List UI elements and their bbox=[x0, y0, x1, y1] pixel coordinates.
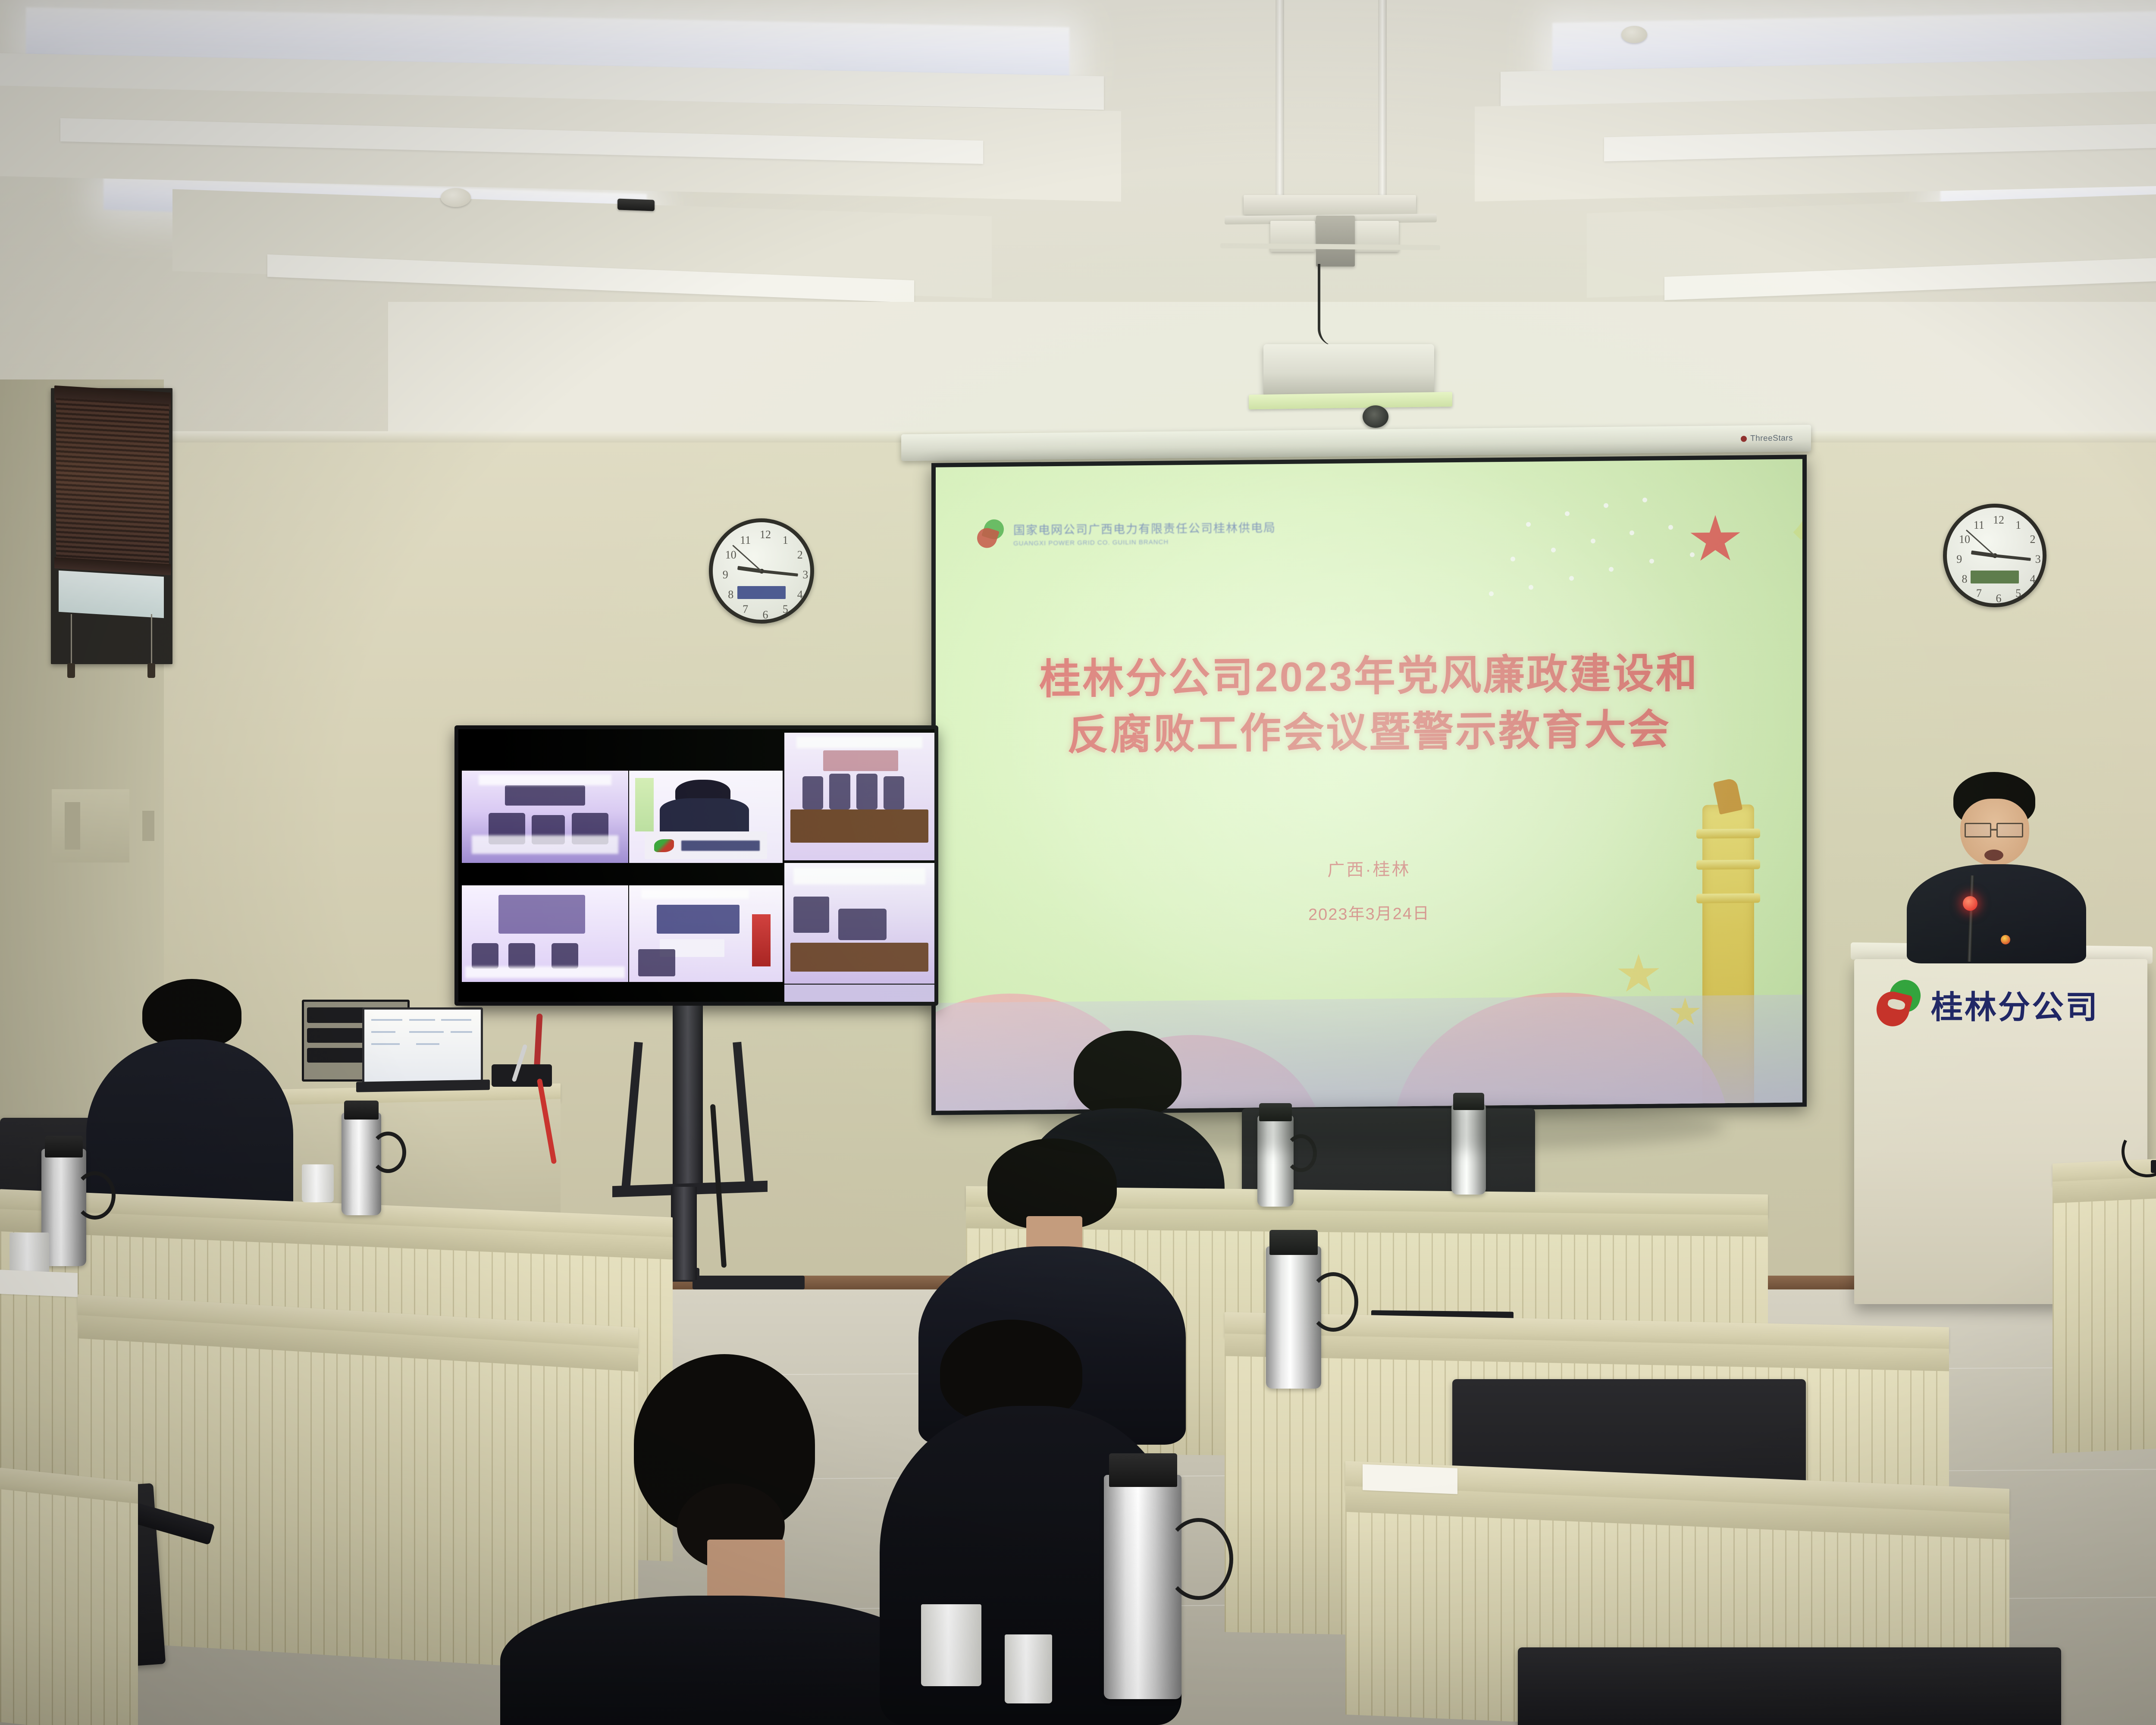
clock-numeral: 7 bbox=[1976, 587, 1982, 600]
cable-bundle bbox=[492, 1064, 552, 1087]
left-wall-recess bbox=[65, 802, 80, 850]
tv-stand-foot bbox=[693, 1276, 805, 1289]
clock-minute-hand bbox=[1995, 554, 2031, 561]
vc-tile-room-5[interactable] bbox=[629, 885, 783, 982]
clock-numeral: 3 bbox=[2035, 553, 2041, 566]
clock-numeral: 12 bbox=[760, 528, 771, 541]
brand-dot-icon bbox=[1741, 436, 1747, 442]
thermos-lid[interactable] bbox=[1269, 1230, 1318, 1255]
vc-tile-room-4[interactable] bbox=[462, 885, 628, 982]
speaker-torso bbox=[1907, 864, 2086, 963]
speaker-mouth bbox=[1984, 850, 2003, 861]
slide-header: 国家电网公司广西电力有限责任公司桂林供电局 GUANGXI POWER GRID… bbox=[977, 516, 1276, 550]
table-skirt bbox=[0, 1489, 138, 1725]
meeting-room-photo: 121234567891011 121234567891011 ThreeSta… bbox=[0, 0, 2156, 1725]
vc-tile-room-1[interactable] bbox=[462, 771, 628, 863]
thermos-lid[interactable] bbox=[344, 1101, 379, 1120]
projection-screen: 国家电网公司广西电力有限责任公司桂林供电局 GUANGXI POWER GRID… bbox=[931, 455, 1807, 1115]
clock-numeral: 8 bbox=[728, 588, 733, 601]
projector-mount-plate bbox=[1244, 195, 1416, 215]
screen-shadow bbox=[1035, 1104, 1725, 1151]
attendee-hair bbox=[142, 979, 241, 1048]
thermos-handle[interactable] bbox=[370, 1132, 406, 1173]
speaker-glasses-icon bbox=[1965, 823, 1991, 837]
projector-suspension-rod bbox=[1378, 0, 1387, 195]
clock-numeral: 4 bbox=[2030, 573, 2035, 586]
company-logo-icon bbox=[1877, 980, 1921, 1029]
microphone-base bbox=[2151, 1160, 2156, 1173]
slide-org-name-cn: 国家电网公司广西电力有限责任公司桂林供电局 bbox=[1013, 518, 1276, 538]
thermos-handle[interactable] bbox=[74, 1171, 116, 1220]
projector-icon bbox=[1263, 344, 1434, 397]
microphone-led-indicator bbox=[1963, 896, 1977, 911]
tv-stand-pole bbox=[673, 1006, 703, 1187]
slide-title-line1: 桂林分公司2023年党风廉政建设和 bbox=[936, 644, 1802, 709]
clock-brand-band bbox=[1971, 571, 2019, 583]
projector-suspension-rod bbox=[1275, 0, 1284, 195]
vc-tile-room-2[interactable] bbox=[784, 733, 934, 860]
clock-numeral: 1 bbox=[2015, 519, 2021, 532]
podium-brand: 桂林分公司 bbox=[1877, 980, 2099, 1029]
window-blind-icon[interactable] bbox=[56, 398, 169, 574]
slide-org-name-en: GUANGXI POWER GRID CO. GUILIN BRANCH bbox=[1013, 537, 1276, 547]
clock-numeral: 10 bbox=[1959, 533, 1970, 546]
slide-title: 桂林分公司2023年党风廉政建设和 反腐败工作会议暨警示教育大会 bbox=[936, 644, 1802, 764]
projected-slide: 国家电网公司广西电力有限责任公司桂林供电局 GUANGXI POWER GRID… bbox=[936, 459, 1802, 1110]
window-glass bbox=[59, 571, 164, 618]
smoke-detector-icon bbox=[1621, 26, 1647, 43]
clock-numeral: 5 bbox=[783, 603, 788, 616]
speaker-at-podium bbox=[1862, 772, 2129, 962]
clock-numeral: 12 bbox=[1993, 514, 2004, 527]
blind-cord-weight[interactable] bbox=[147, 663, 155, 678]
clock-numeral: 7 bbox=[743, 603, 748, 616]
projector-tilt-joint bbox=[1316, 216, 1355, 267]
video-conference-display[interactable] bbox=[454, 725, 938, 1006]
vc-tile-room-3[interactable] bbox=[784, 863, 934, 984]
clock-numeral: 8 bbox=[1962, 573, 1968, 586]
slide-org-logo-icon bbox=[977, 518, 1006, 550]
ceiling-speaker-icon bbox=[617, 198, 655, 211]
blind-cord-weight[interactable] bbox=[67, 663, 75, 678]
projector-cable bbox=[1318, 264, 1344, 346]
video-conference-grid bbox=[458, 729, 934, 1002]
clock-numeral: 9 bbox=[1956, 553, 1962, 566]
table-skirt bbox=[2053, 1179, 2156, 1453]
smoke-detector-icon bbox=[441, 188, 471, 207]
water-cup[interactable] bbox=[302, 1164, 334, 1202]
speaker-glasses-icon bbox=[1996, 823, 2023, 837]
left-wall-panel bbox=[52, 789, 129, 862]
thermos-lid[interactable] bbox=[45, 1136, 83, 1157]
clock-numeral: 3 bbox=[802, 568, 808, 581]
attendee-torso bbox=[500, 1596, 931, 1725]
thermos-icon[interactable] bbox=[1104, 1475, 1181, 1699]
tv-stand-column bbox=[671, 1187, 697, 1280]
vc-tile-active-speaker[interactable] bbox=[629, 771, 783, 863]
thermos-handle[interactable] bbox=[1164, 1518, 1233, 1600]
slide-subtitle: 广西·桂林 2023年3月24日 bbox=[936, 851, 1802, 928]
wall-clock-icon: 121234567891011 bbox=[709, 518, 814, 624]
clock-brand-band bbox=[737, 586, 786, 599]
thermos-lid[interactable] bbox=[1109, 1453, 1177, 1487]
clock-numeral: 2 bbox=[2030, 533, 2035, 546]
vc-tile-empty[interactable] bbox=[784, 985, 934, 1002]
clock-numeral: 11 bbox=[740, 534, 751, 547]
attendee-hair bbox=[1074, 1031, 1181, 1117]
attendee-hair bbox=[987, 1138, 1117, 1229]
clock-numeral: 9 bbox=[723, 568, 728, 581]
podium-label: 桂林分公司 bbox=[1931, 982, 2099, 1028]
clock-numeral: 11 bbox=[1974, 519, 1984, 532]
clock-minute-hand bbox=[761, 570, 799, 577]
laptop-icon[interactable] bbox=[362, 1007, 483, 1084]
attendee-foreground-woman bbox=[535, 1354, 897, 1725]
projector-base-plate bbox=[1249, 392, 1452, 410]
document-papers[interactable] bbox=[1363, 1464, 1457, 1494]
clock-numeral: 6 bbox=[763, 608, 768, 621]
clock-numeral: 10 bbox=[725, 549, 736, 561]
clock-numeral: 6 bbox=[1996, 592, 2002, 605]
clock-numeral: 4 bbox=[797, 588, 803, 601]
water-cup[interactable] bbox=[921, 1604, 981, 1686]
speaker-glasses-bridge bbox=[1991, 829, 1996, 831]
camera-icon bbox=[1363, 405, 1388, 428]
water-cup[interactable] bbox=[1005, 1634, 1052, 1703]
screen-case-brand: ThreeStars bbox=[1741, 433, 1793, 443]
blind-cord[interactable] bbox=[151, 614, 152, 667]
thermos-handle[interactable] bbox=[1308, 1272, 1358, 1332]
screen-brand-label: ThreeStars bbox=[1750, 433, 1793, 443]
blind-cord[interactable] bbox=[71, 614, 72, 667]
chair[interactable] bbox=[1518, 1647, 2061, 1725]
clock-numeral: 5 bbox=[2015, 587, 2021, 600]
clock-numeral: 1 bbox=[783, 534, 788, 547]
document-papers[interactable] bbox=[0, 1270, 78, 1297]
wall-clock-icon: 121234567891011 bbox=[1943, 504, 2046, 607]
clock-numeral: 2 bbox=[797, 549, 803, 561]
slide-title-line2: 反腐败工作会议暨警示教育大会 bbox=[936, 700, 1802, 765]
party-emblem-pin-icon bbox=[2001, 935, 2010, 944]
left-wall-recess bbox=[142, 811, 154, 841]
